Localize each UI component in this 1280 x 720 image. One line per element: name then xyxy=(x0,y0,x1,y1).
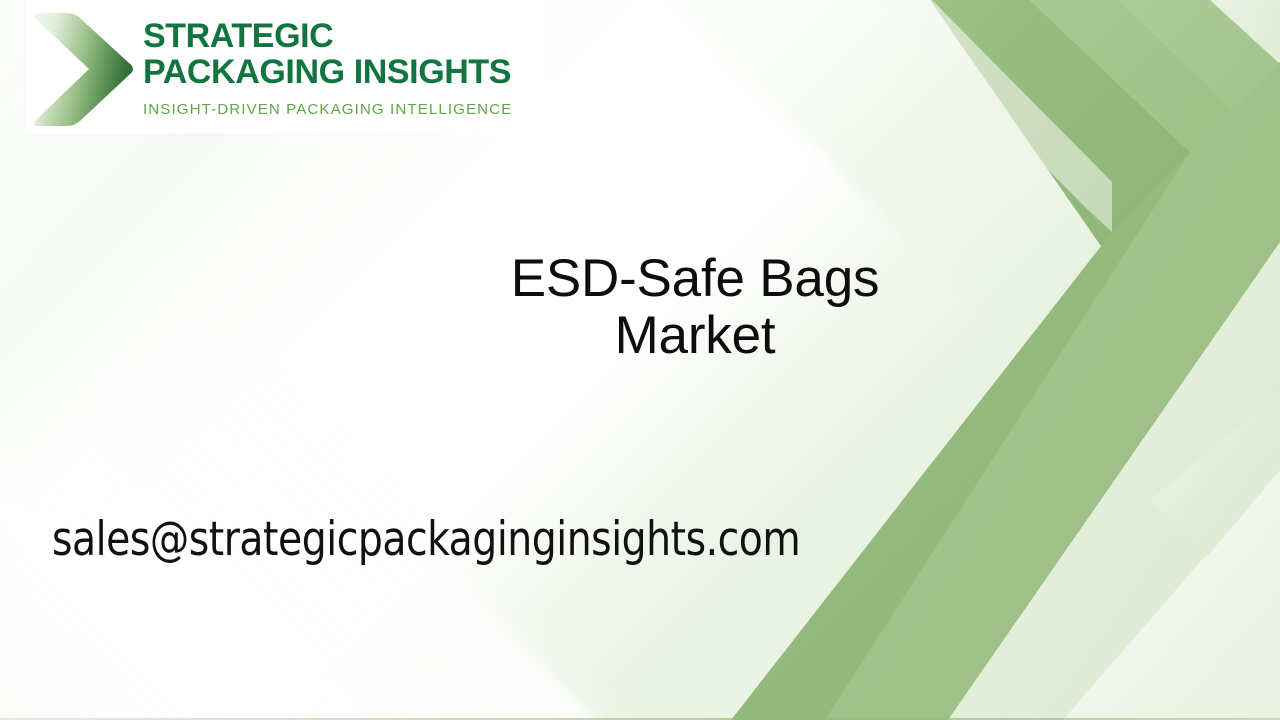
contact-email[interactable]: sales@strategicpackaginginsights.com xyxy=(52,512,945,567)
title-line-2: Market xyxy=(360,307,1030,364)
slide-canvas: STRATEGIC PACKAGING INSIGHTS INSIGHT-DRI… xyxy=(0,0,1280,720)
title-line-1: ESD-Safe Bags xyxy=(360,250,1030,307)
logo-tagline: INSIGHT-DRIVEN PACKAGING INTELLIGENCE xyxy=(143,101,512,118)
logo-line-2: PACKAGING INSIGHTS xyxy=(143,55,512,90)
brand-logo: STRATEGIC PACKAGING INSIGHTS INSIGHT-DRI… xyxy=(25,0,545,133)
logo-wordmark: STRATEGIC PACKAGING INSIGHTS INSIGHT-DRI… xyxy=(143,15,512,118)
logo-line-1: STRATEGIC xyxy=(143,19,512,54)
page-title: ESD-Safe Bags Market xyxy=(360,250,1030,364)
contact-block: sales@strategicpackaginginsights.com xyxy=(52,512,1012,567)
chevron-right-mark-icon xyxy=(33,7,137,127)
